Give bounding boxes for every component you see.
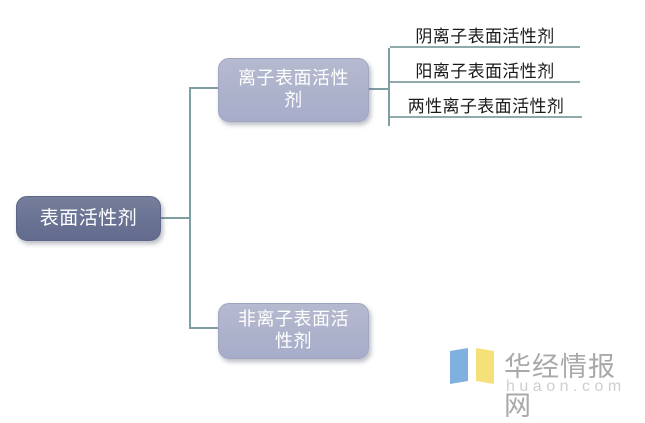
diagram-canvas: 表面活性剂 离子表面活性 剂 非离子表面活 性剂 阴离子表面活性剂 阳离子表面活… xyxy=(0,0,645,413)
connector-trunk-vertical xyxy=(189,87,191,329)
connector-trunk-to-nonionic xyxy=(189,327,219,329)
connector-ionic-stub xyxy=(368,88,390,90)
leaf-anionic-rule xyxy=(390,46,580,48)
connector-root-stub xyxy=(160,217,191,219)
leaf-cationic-rule xyxy=(390,81,580,83)
connector-trunk-to-ionic xyxy=(189,87,219,89)
node-root-surfactant[interactable]: 表面活性剂 xyxy=(16,196,161,241)
watermark-en-text: huaon.com xyxy=(506,378,626,396)
watermark-logo: 华经情报网 huaon.com xyxy=(449,345,639,405)
node-ionic-surfactant[interactable]: 离子表面活性 剂 xyxy=(218,58,369,122)
open-book-icon xyxy=(449,348,495,384)
leaf-zwitterionic-rule xyxy=(390,116,582,118)
node-nonionic-surfactant[interactable]: 非离子表面活 性剂 xyxy=(218,303,369,359)
